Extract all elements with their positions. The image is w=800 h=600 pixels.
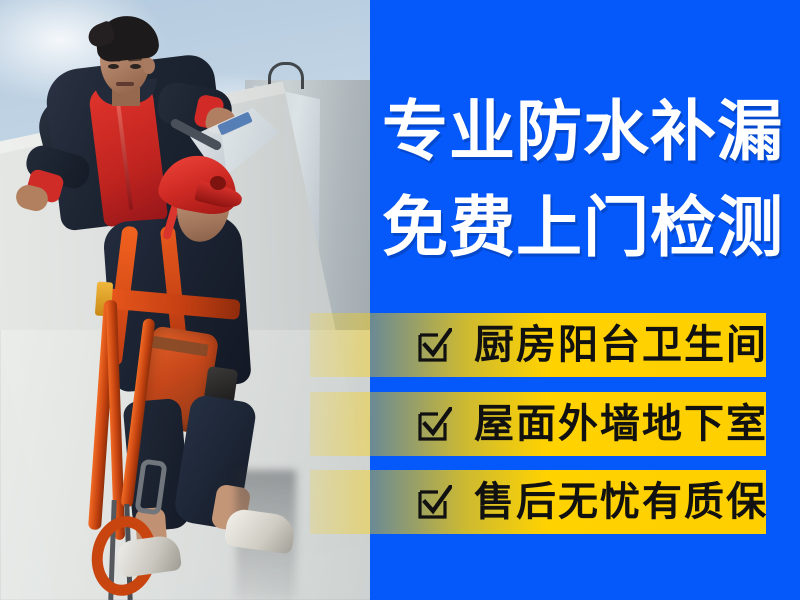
headline-line-1: 专业防水补漏 <box>382 96 800 166</box>
feature-bar-2-label: 屋面外墙地下室 <box>474 402 768 446</box>
feature-bar-1-label: 厨房阳台卫生间 <box>474 323 768 367</box>
checkbox-checked-icon <box>418 407 452 441</box>
worker-top-left-eye <box>108 64 119 69</box>
feature-bar-1[interactable]: 厨房阳台卫生间 <box>310 313 766 377</box>
feature-bar-3-label: 售后无忧有质保 <box>474 480 768 524</box>
worker-top-ear <box>143 58 155 74</box>
checkbox-checked-icon <box>418 328 452 362</box>
worker-top-mouth <box>116 82 134 86</box>
feature-bar-2[interactable]: 屋面外墙地下室 <box>310 392 766 456</box>
waterproofing-ad-poster: 专业防水补漏 免费上门检测 厨房阳台卫生间 屋面外墙地下室 <box>0 0 800 600</box>
feature-bar-3[interactable]: 售后无忧有质保 <box>310 470 766 534</box>
worker-top-right-eye <box>130 64 141 69</box>
headline-line-2: 免费上门检测 <box>382 192 800 262</box>
checkbox-checked-icon <box>418 485 452 519</box>
